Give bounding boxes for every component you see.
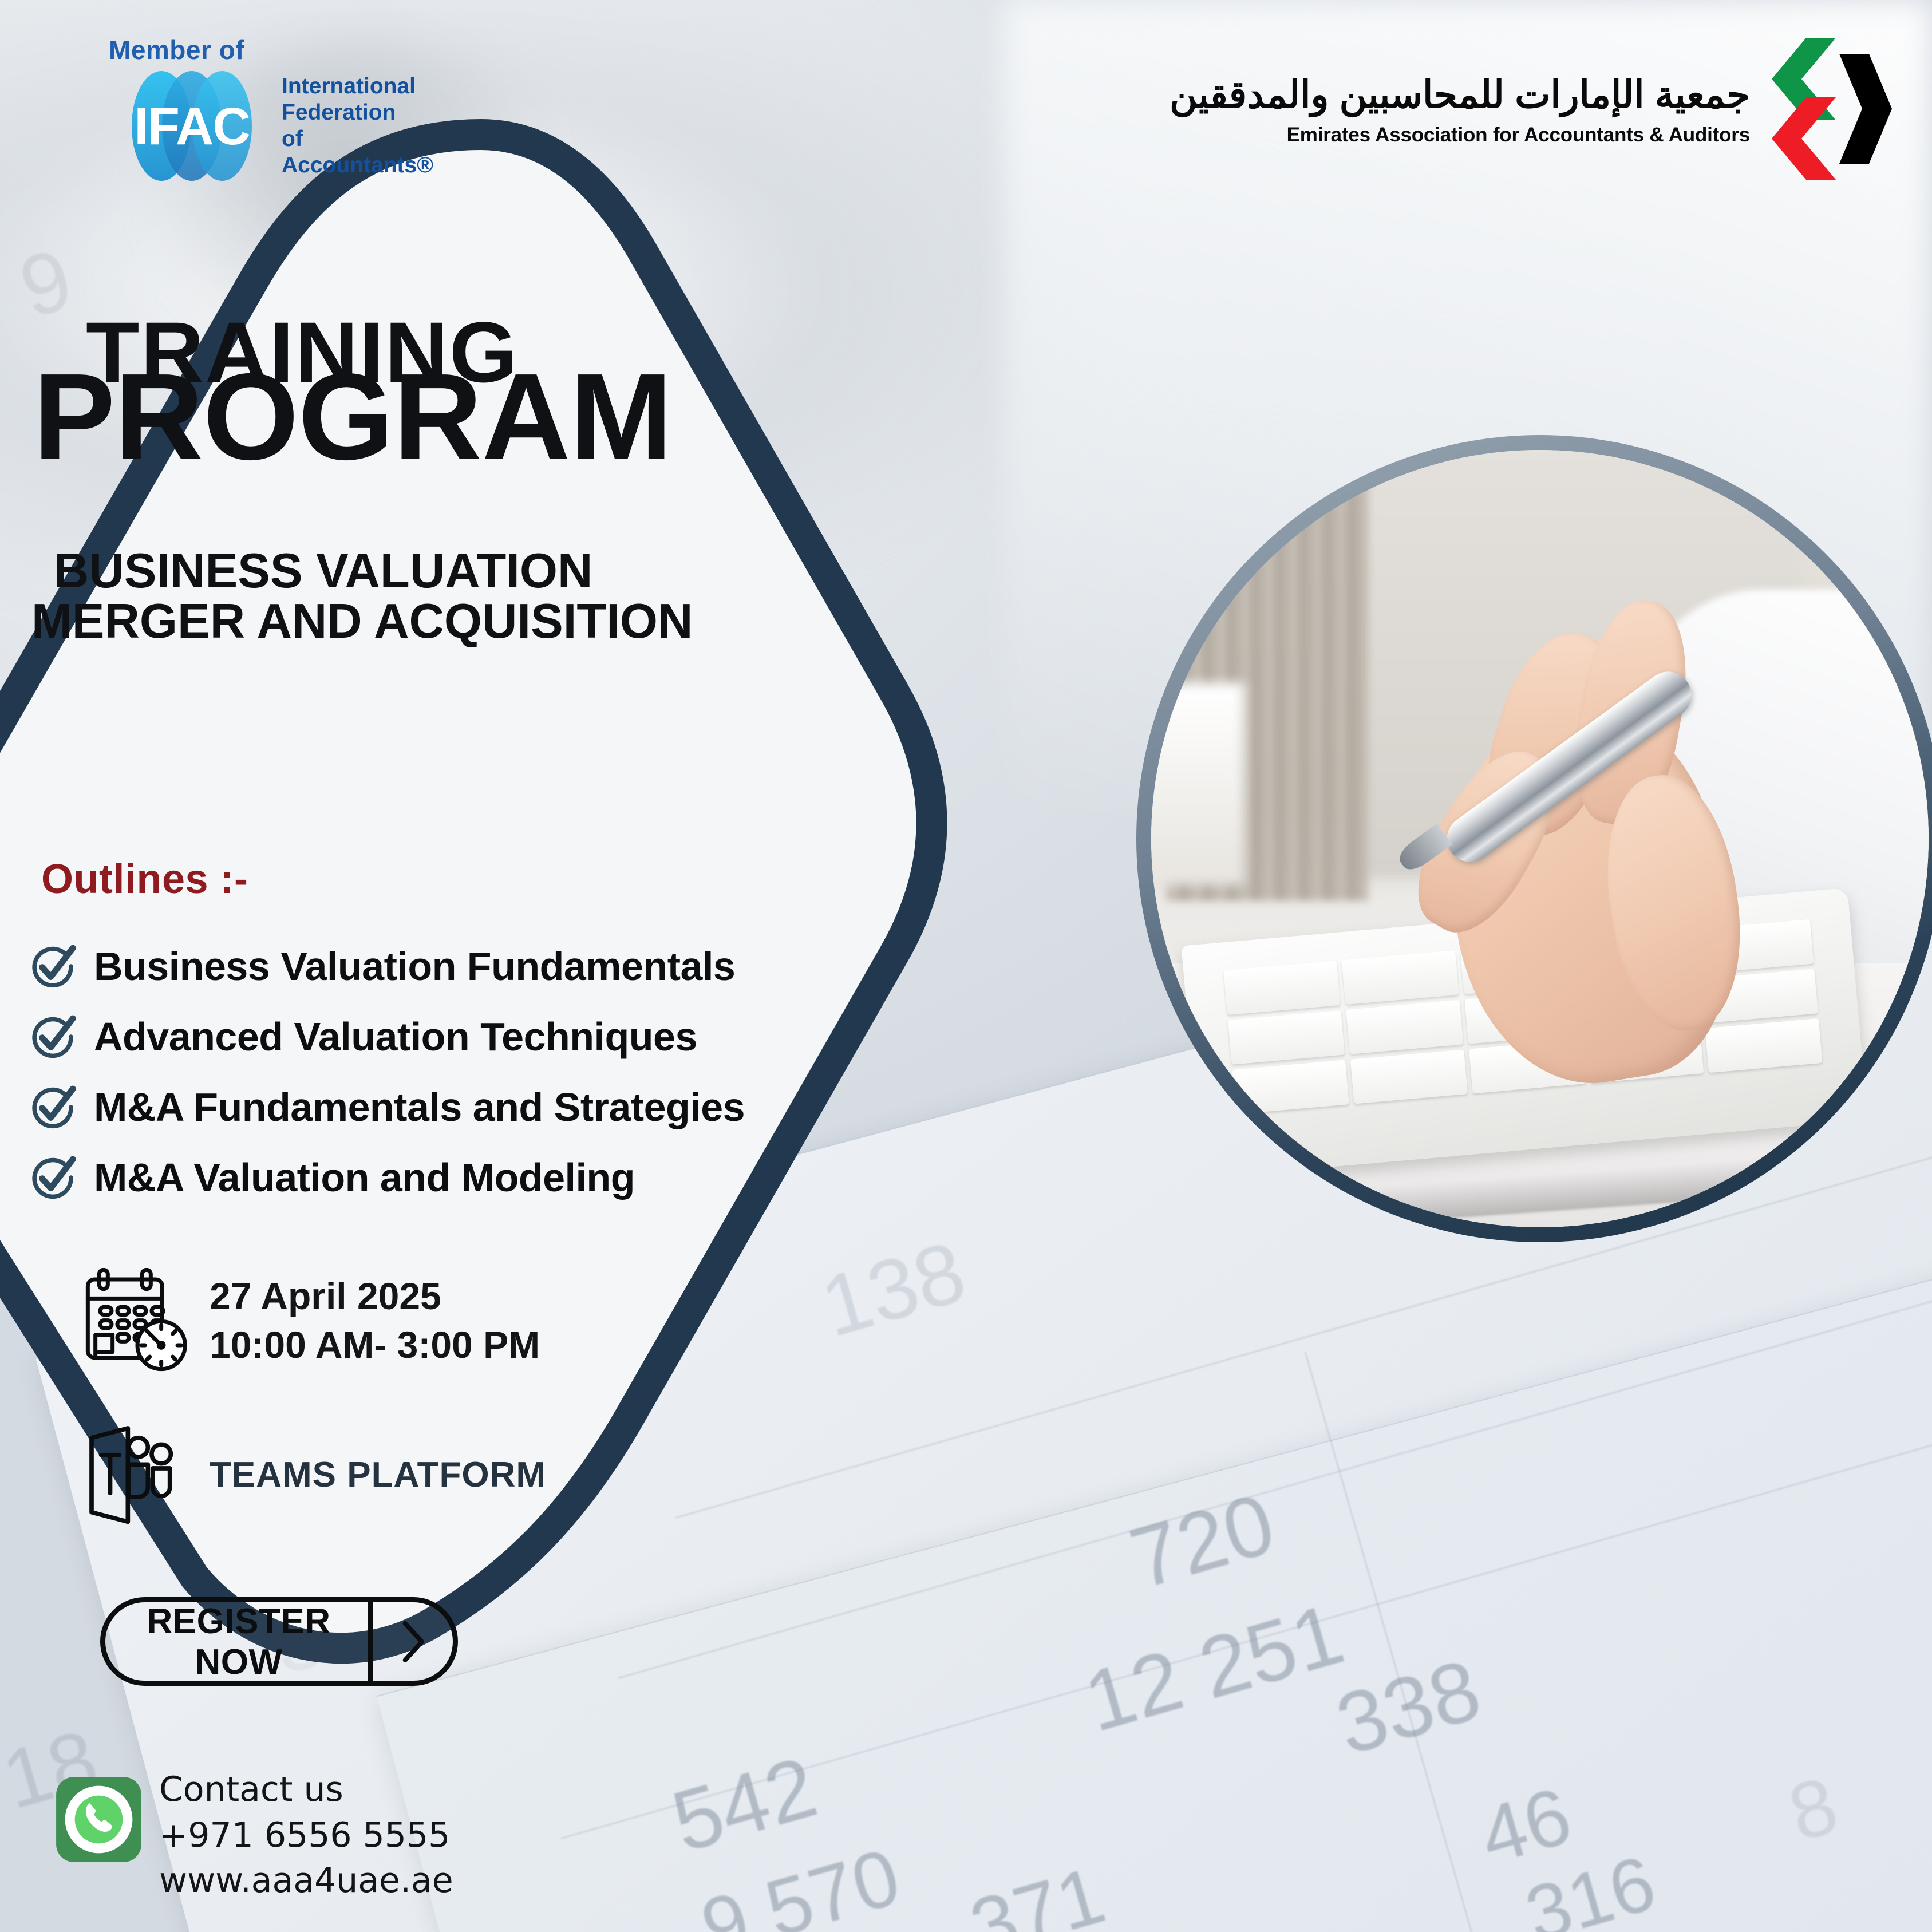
photo-window <box>1151 683 1244 885</box>
whatsapp-icon[interactable] <box>54 1775 143 1864</box>
microsoft-teams-icon <box>74 1423 189 1527</box>
ifac-full-name: International Federation of Accountants® <box>282 73 433 179</box>
calculator-key <box>1228 1010 1345 1065</box>
eaa-logo: جمعية الإمارات للمحاسبين والمدققين Emira… <box>1170 34 1892 183</box>
ifac-member-of-label: Member of <box>109 34 429 65</box>
eaa-arabic-name: جمعية الإمارات للمحاسبين والمدققين <box>1170 71 1750 118</box>
ifac-logo: Member of <box>109 34 429 183</box>
svg-text:IFAC: IFAC <box>134 97 250 156</box>
hero-photo-circle <box>1136 435 1932 1242</box>
contact-details: Contact us +971 6556 5555 www.aaa4uae.ae <box>159 1767 453 1903</box>
event-platform-label: TEAMS PLATFORM <box>210 1452 546 1498</box>
chevron-right-icon[interactable] <box>373 1619 453 1665</box>
register-now-label: REGISTER NOW <box>105 1601 368 1682</box>
eaa-chevron-logo-icon <box>1772 34 1892 183</box>
list-item: Business Valuation Fundamentals <box>29 939 887 994</box>
register-now-button[interactable]: REGISTER NOW <box>100 1597 458 1686</box>
ifac-mark-row: IFAC International Federation of Account… <box>109 69 429 183</box>
hero-photo-image <box>1151 450 1929 1227</box>
check-circle-icon <box>29 942 77 990</box>
list-item: M&A Fundamentals and Strategies <box>29 1080 887 1135</box>
check-circle-icon <box>29 1153 77 1202</box>
page-title: PROGRAM <box>33 355 672 478</box>
main-content-card: TRAINING PROGRAM BUSINESS VALUATION MERG… <box>0 112 1002 1760</box>
check-circle-icon <box>29 1083 77 1131</box>
calculator-key <box>1223 961 1340 1015</box>
event-date-row: 27 April 2025 10:00 AM- 3:00 PM <box>74 1268 540 1373</box>
calendar-clock-icon <box>74 1268 189 1373</box>
list-item-label: Business Valuation Fundamentals <box>94 943 735 989</box>
card-content: TRAINING PROGRAM BUSINESS VALUATION MERG… <box>0 112 1002 1760</box>
contact-block: Contact us +971 6556 5555 www.aaa4uae.ae <box>54 1767 453 1903</box>
list-item-label: M&A Valuation and Modeling <box>94 1155 635 1200</box>
ifac-logo-icon: IFAC <box>109 69 275 183</box>
eaa-english-name: Emirates Association for Accountants & A… <box>1170 124 1750 147</box>
check-circle-icon <box>29 1013 77 1061</box>
event-platform-row: TEAMS PLATFORM <box>74 1423 546 1527</box>
eaa-logo-text: جمعية الإمارات للمحاسبين والمدققين Emira… <box>1170 71 1750 147</box>
photo-hand <box>1431 590 1804 1103</box>
list-item: Advanced Valuation Techniques <box>29 1009 887 1064</box>
list-item-label: M&A Fundamentals and Strategies <box>94 1084 745 1130</box>
outlines-list: Business Valuation Fundamentals Advanced… <box>29 939 887 1220</box>
event-date-time: 27 April 2025 10:00 AM- 3:00 PM <box>210 1272 540 1369</box>
outlines-heading: Outlines :- <box>41 856 248 903</box>
button-divider <box>368 1602 373 1681</box>
list-item-label: Advanced Valuation Techniques <box>94 1014 697 1060</box>
calculator-key <box>1232 1060 1349 1115</box>
list-item: M&A Valuation and Modeling <box>29 1150 887 1205</box>
subtitle-line-2: MERGER AND ACQUISITION <box>31 591 693 652</box>
poster-canvas: 720 12 251 338 46 542 9 570 371 316 83 4… <box>0 0 1932 1932</box>
